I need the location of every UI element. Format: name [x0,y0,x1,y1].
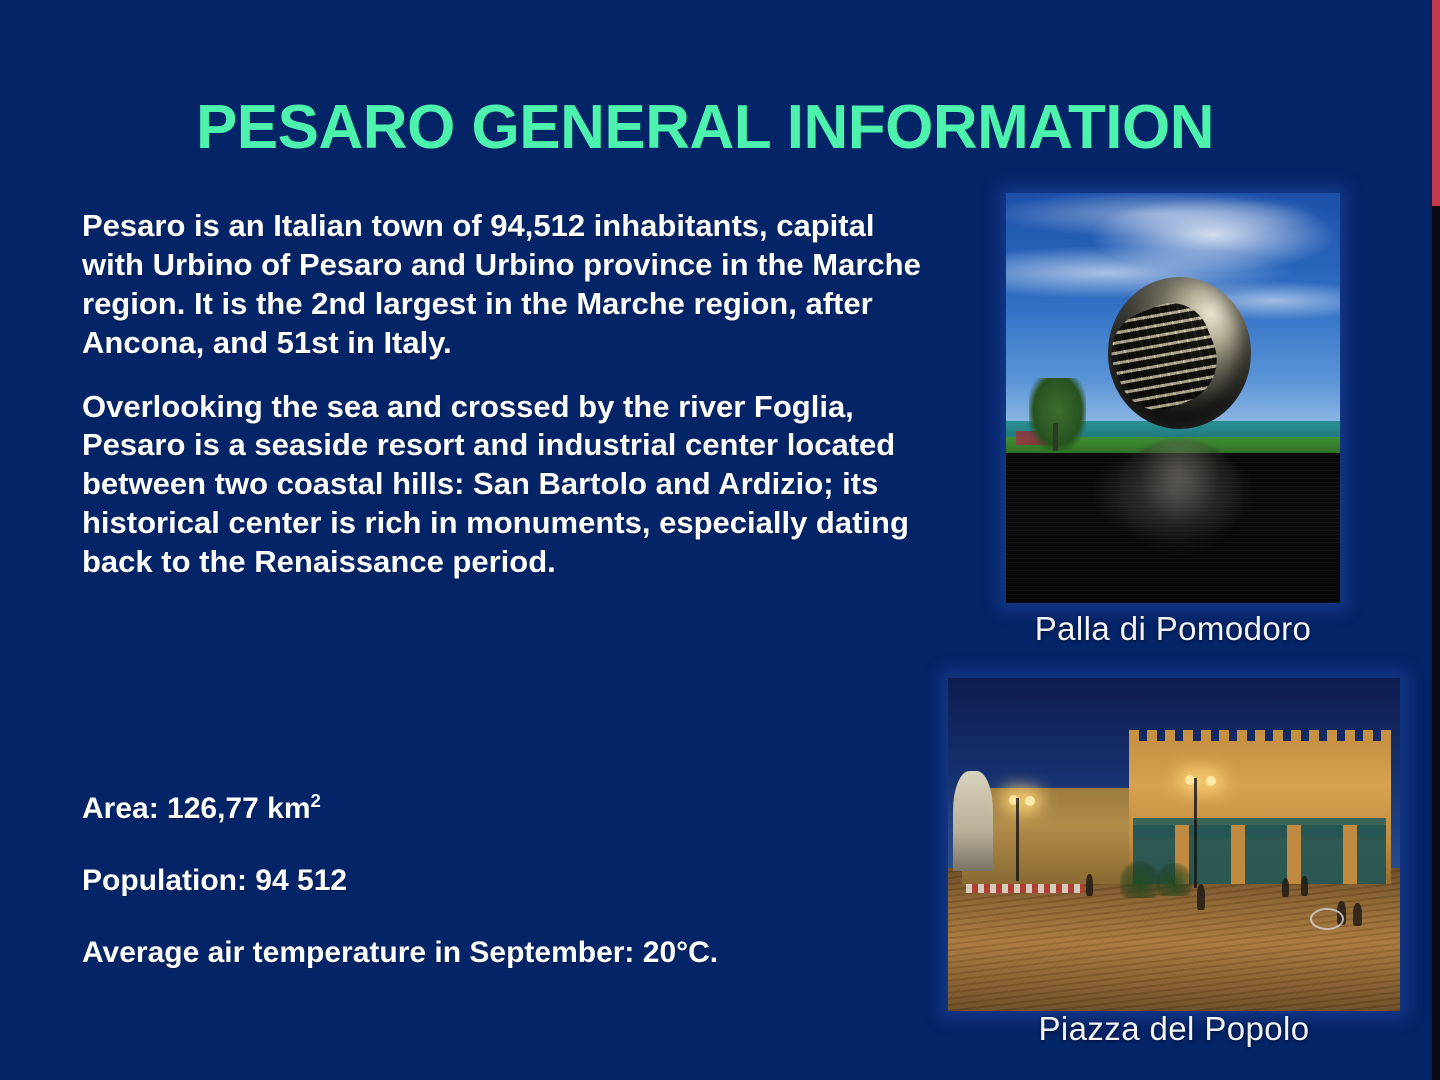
paragraph-description: Overlooking the sea and crossed by the r… [82,388,932,582]
fact-area-value: 126,77 km [167,792,310,825]
photo-piazza-del-popolo [948,678,1400,1011]
piazza-person [1086,874,1093,896]
caption-palla-di-pomodoro: Palla di Pomodoro [1006,610,1340,648]
paragraph-intro: Pesaro is an Italian town of 94,512 inha… [82,207,932,363]
piazza-palm-plant [1156,863,1192,896]
fact-temperature: Average air temperature in September: 20… [82,935,942,971]
piazza-person [1301,876,1308,896]
piazza-person [1197,884,1205,910]
edge-accent-stripe-dark [1432,206,1440,1080]
photo-palla-di-pomodoro [1006,193,1340,603]
palla-sphere-rim-highlight [1108,277,1252,429]
edge-accent-stripe-red [1432,0,1440,206]
piazza-bicycle [1310,908,1344,930]
piazza-crenellations [1129,730,1391,743]
piazza-barrier-tape [966,884,1084,892]
piazza-left-archway [953,771,994,871]
body-text-column: Pesaro is an Italian town of 94,512 inha… [82,207,932,607]
piazza-palm-plant [1120,861,1161,898]
palla-tree-trunk [1053,423,1058,452]
edge-accent-inner-line [1429,0,1432,1080]
fact-area-unit-exponent: 2 [311,790,321,811]
piazza-person [1282,878,1289,897]
photo-palla-content [1006,193,1340,603]
facts-list: Area: 126,77 km2 Population: 94 512 Aver… [82,790,942,971]
piazza-street-lamp-light [1025,796,1035,806]
piazza-lamp-post [1194,778,1197,888]
piazza-street-lamp-light [1206,776,1216,786]
caption-piazza-del-popolo: Piazza del Popolo [948,1010,1400,1048]
palla-sphere-sculpture [1108,277,1252,429]
photo-piazza-content [948,678,1400,1011]
palla-sphere-reflection [1116,439,1243,554]
fact-area: Area: 126,77 km2 [82,790,942,827]
fact-population: Population: 94 512 [82,863,942,899]
page-title: PESARO GENERAL INFORMATION [0,97,1410,159]
piazza-person [1353,903,1362,926]
piazza-lamp-post [1016,798,1019,881]
fact-area-label: Area: [82,792,159,825]
